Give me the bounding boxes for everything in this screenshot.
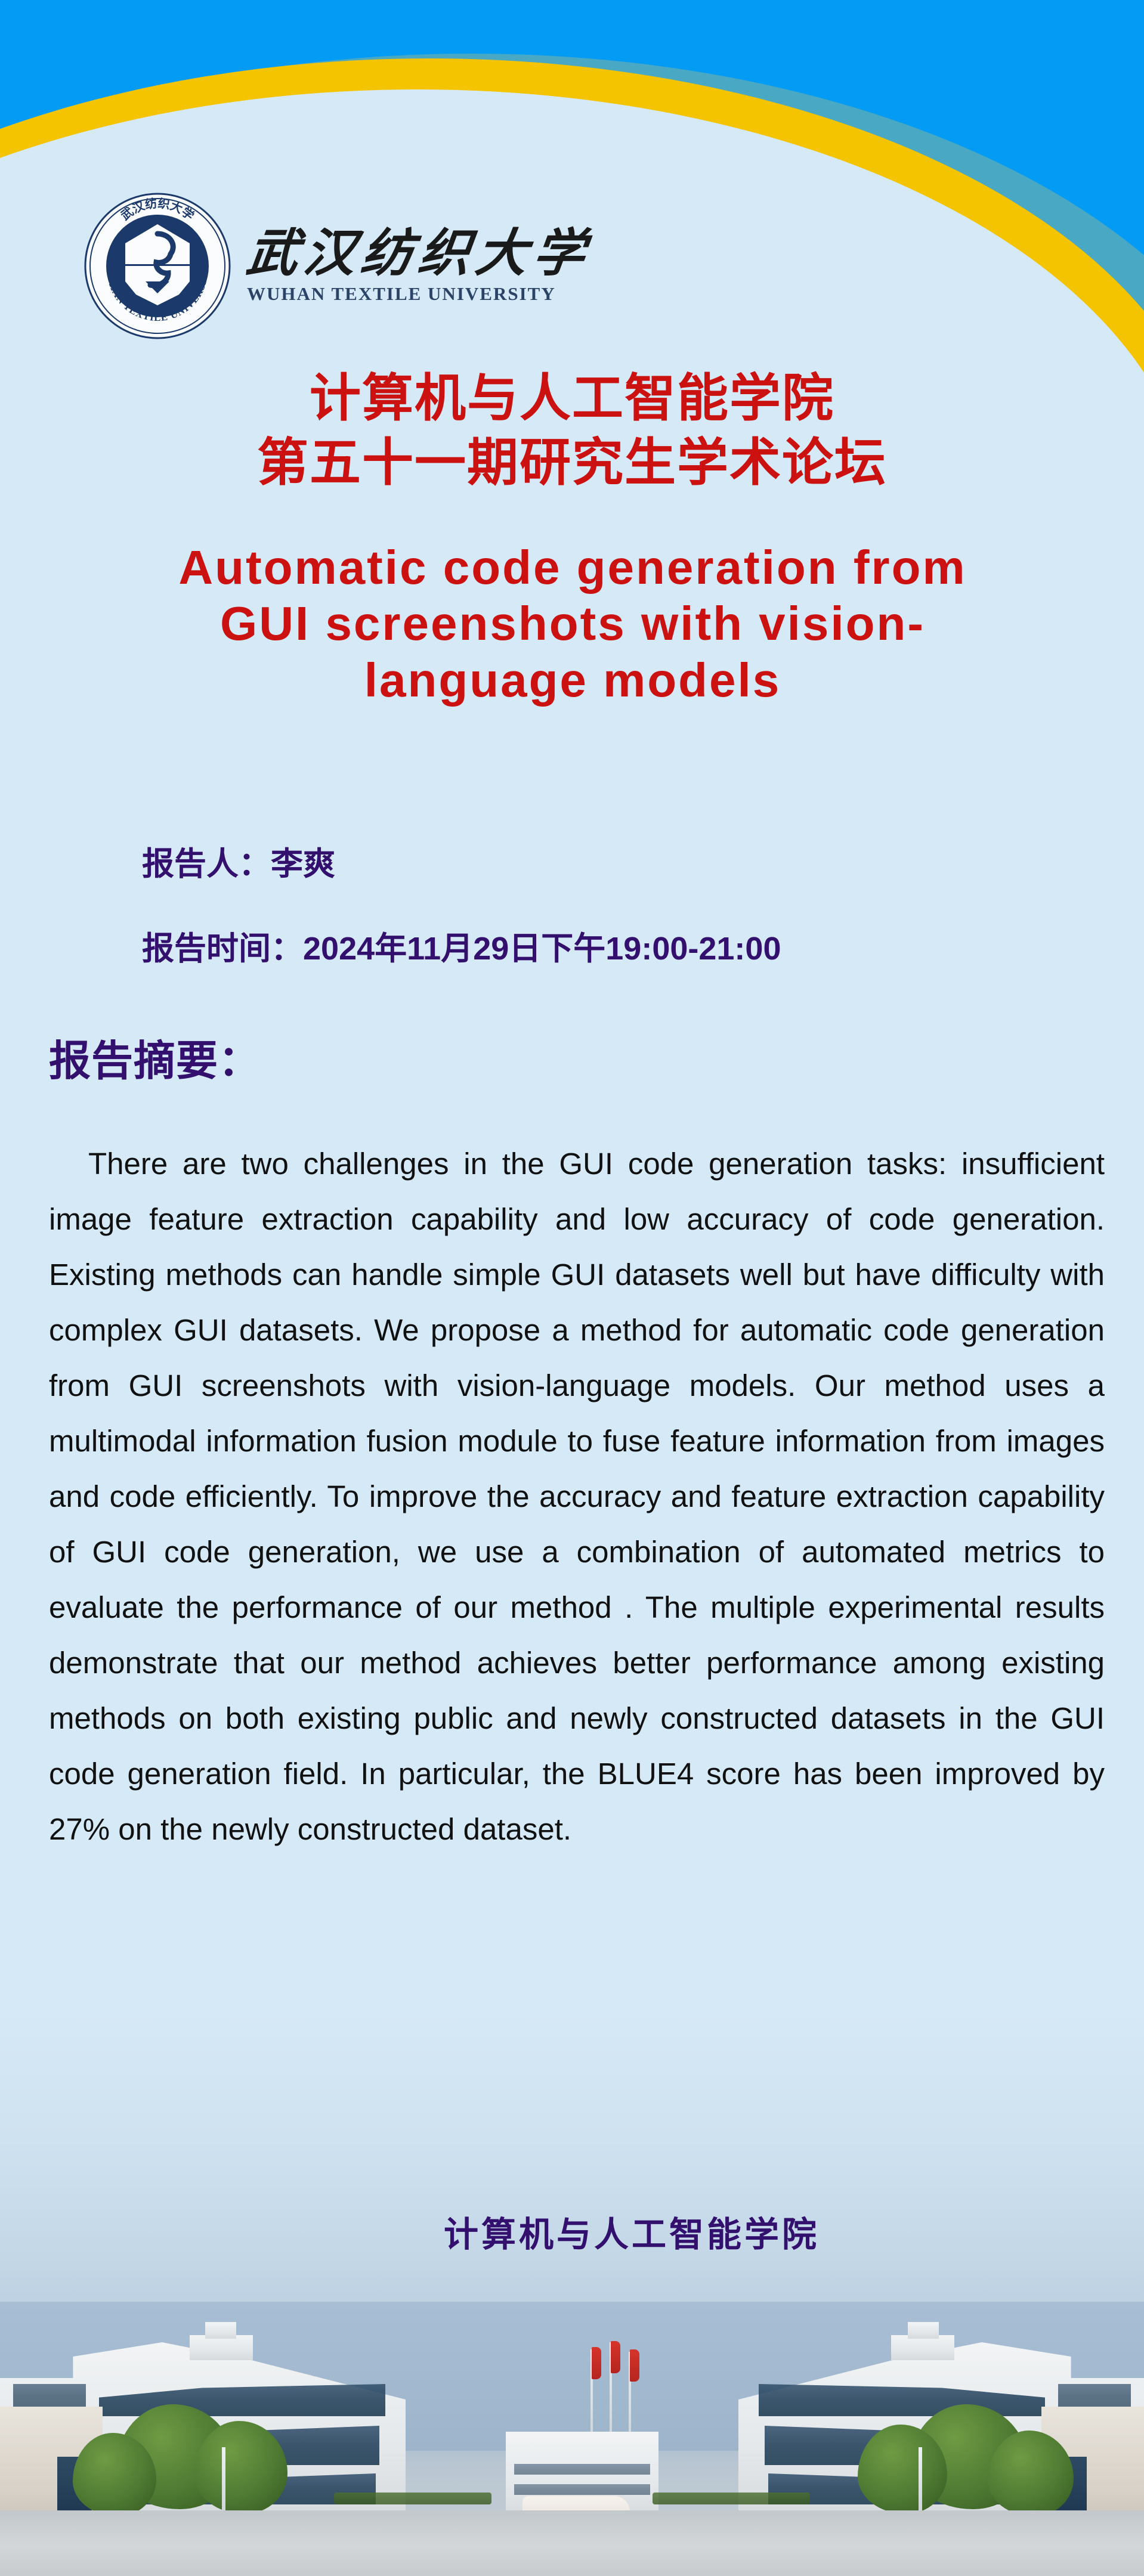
speaker-line: 报告人：李爽	[142, 837, 335, 884]
abstract-body: There are two challenges in the GUI code…	[49, 1136, 1105, 1857]
building-right-tower-box	[908, 2322, 939, 2339]
red-flag-icon	[611, 2341, 620, 2373]
heading-department: 计算机与人工智能学院	[0, 356, 1144, 431]
wordmark-english: WUHAN TEXTILE UNIVERSITY	[247, 283, 590, 305]
campus-photo: 武汉纺织大学	[0, 2302, 1144, 2576]
time-line: 报告时间：2024年11月29日下午19:00-21:00	[142, 922, 781, 969]
university-logo-row: 武汉纺织大学 WUHAN TEXTILE UNIVERSITY 武汉纺织大学 W…	[84, 192, 590, 340]
heading-forum-session: 第五十一期研究生学术论坛	[0, 420, 1144, 495]
hedge-row	[653, 2493, 810, 2504]
university-wordmark: 武汉纺织大学 WUHAN TEXTILE UNIVERSITY	[247, 227, 590, 305]
talk-title: Automatic code generation from GUI scree…	[149, 540, 996, 708]
abstract-heading: 报告摘要：	[49, 1027, 261, 1088]
red-flag-icon	[630, 2349, 639, 2382]
footer-department-label: 计算机与人工智能学院	[0, 2206, 1144, 2256]
wordmark-chinese: 武汉纺织大学	[244, 227, 594, 280]
university-seal-icon: 武汉纺织大学 WUHAN TEXTILE UNIVERSITY	[84, 192, 231, 340]
red-flag-icon	[592, 2347, 601, 2379]
building-glass-band	[514, 2484, 650, 2495]
building-glass-band	[514, 2464, 650, 2475]
hedge-row	[334, 2493, 491, 2504]
poster-root: 武汉纺织大学 WUHAN TEXTILE UNIVERSITY 武汉纺织大学 W…	[0, 0, 1144, 2576]
building-left-tower-cap	[190, 2335, 253, 2360]
building-right-tower-cap	[891, 2335, 954, 2360]
plaza-ground	[0, 2510, 1144, 2576]
building-left-tower-box	[205, 2322, 236, 2339]
